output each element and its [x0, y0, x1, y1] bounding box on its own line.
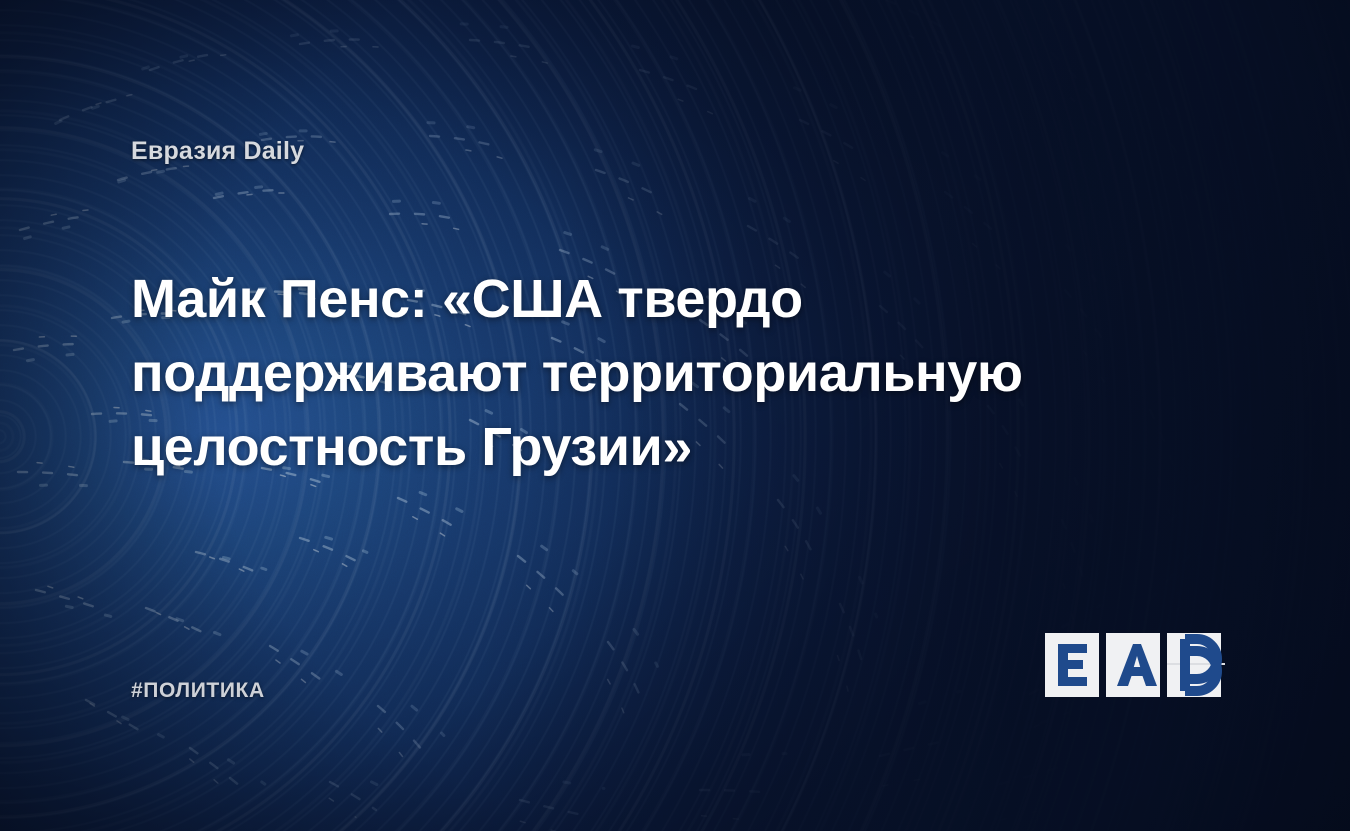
eadaily-logo[interactable] — [1045, 633, 1225, 697]
logo-letter-e — [1058, 644, 1087, 686]
category-hashtag[interactable]: #ПОЛИТИКА — [131, 679, 265, 703]
social-share-card: Евразия Daily Майк Пенс: «США твердо под… — [0, 0, 1350, 831]
card-content: Евразия Daily Майк Пенс: «США твердо под… — [0, 0, 1350, 831]
page-title: Майк Пенс: «США твердо поддерживают терр… — [131, 262, 1071, 484]
brand-name: Евразия Daily — [131, 137, 304, 166]
